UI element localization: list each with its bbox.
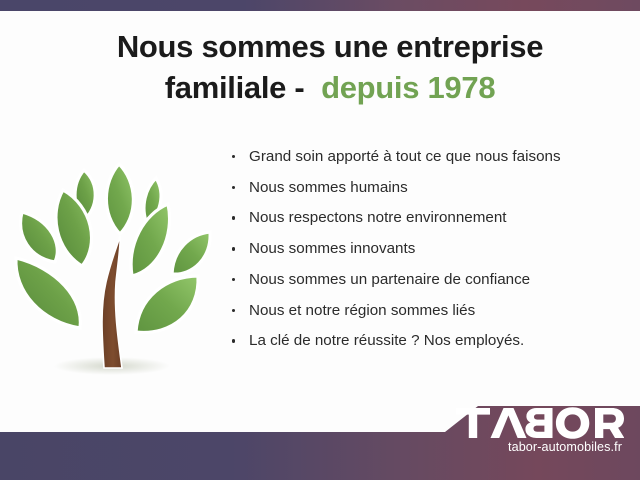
list-item-label: La clé de notre réussite ? Nos employés.: [249, 332, 524, 349]
list-item: Nous respectons notre environnement: [231, 209, 631, 227]
list-item: La clé de notre réussite ? Nos employés.: [231, 332, 631, 350]
list-item: Nous sommes innovants: [231, 240, 631, 258]
headline-line-2-accent: depuis 1978: [321, 70, 495, 105]
list-item-label: Nous sommes humains: [249, 179, 408, 196]
bullet-dot-icon: [232, 309, 235, 312]
list-item-label: Nous et notre région sommes liés: [249, 302, 475, 319]
bullet-dot-icon: [232, 339, 235, 342]
list-item: Nous et notre région sommes liés: [231, 302, 631, 320]
list-item-label: Nous respectons notre environnement: [249, 209, 507, 226]
page-title: Nous sommes une entreprise familiale - d…: [50, 26, 610, 108]
bullet-dot-icon: [232, 216, 235, 219]
tree-trunk: [102, 236, 122, 368]
list-item: Grand soin apporté à tout ce que nous fa…: [231, 148, 631, 166]
footer-band-shape: [0, 398, 640, 480]
bullet-dot-icon: [232, 278, 235, 281]
bullet-dot-icon: [232, 155, 235, 158]
list-item-label: Nous sommes innovants: [249, 240, 415, 257]
list-item-label: Nous sommes un partenaire de confiance: [249, 271, 530, 288]
footer-band: tabor-automobiles.fr: [0, 398, 640, 480]
bullet-dot-icon: [232, 247, 235, 250]
tree-icon: [8, 140, 230, 388]
headline-line-1: Nous sommes une entreprise: [117, 29, 543, 64]
list-item: Nous sommes un partenaire de confiance: [231, 271, 631, 289]
slide-root: Nous sommes une entreprise familiale - d…: [0, 0, 640, 480]
list-item: Nous sommes humains: [231, 179, 631, 197]
bullet-dot-icon: [232, 186, 235, 189]
list-item-label: Grand soin apporté à tout ce que nous fa…: [249, 148, 561, 165]
value-proposition-list: Grand soin apporté à tout ce que nous fa…: [231, 148, 631, 363]
top-accent-bar: [0, 0, 640, 11]
headline-line-2-black: familiale -: [165, 70, 305, 105]
